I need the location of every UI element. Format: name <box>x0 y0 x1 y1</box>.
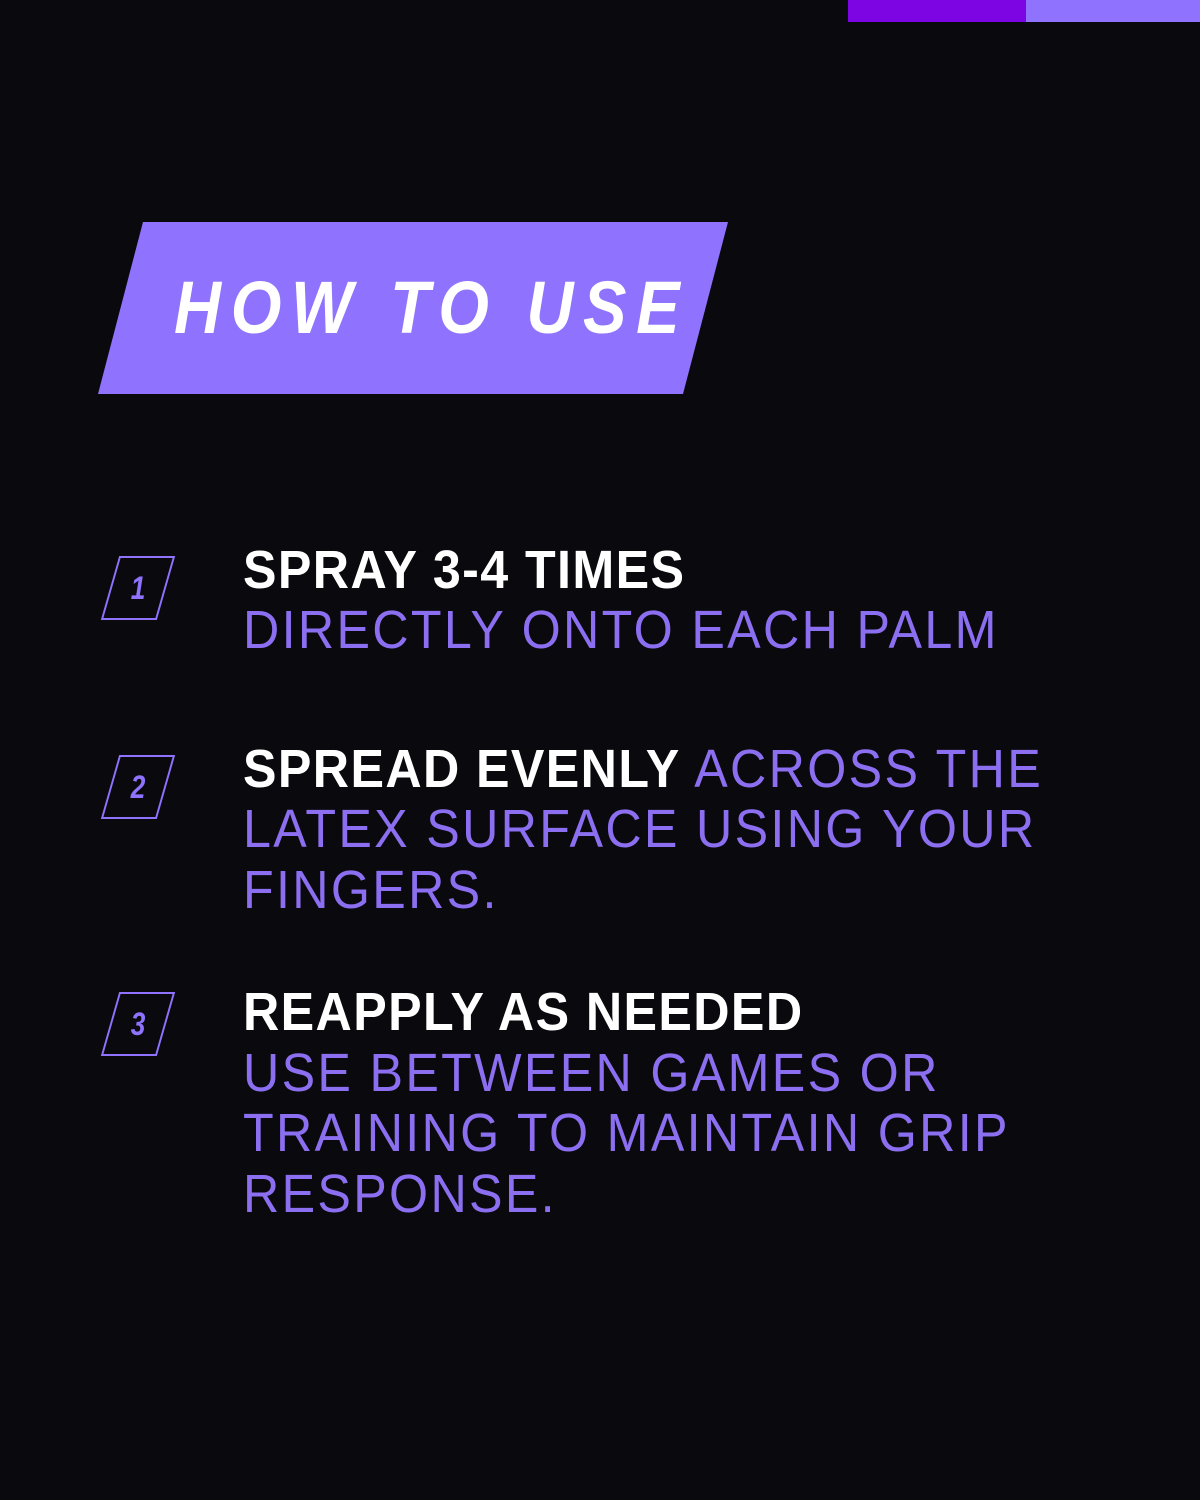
step-text-3: REAPPLY AS NEEDEDUSE BETWEEN GAMES OR TR… <box>243 982 1195 1224</box>
step-item-2: 2 SPREAD EVENLY ACROSS THE LATEX SURFACE… <box>0 739 1200 920</box>
step-number-badge-3: 3 <box>110 992 166 1056</box>
top-accent-segment-light <box>1026 0 1200 22</box>
step-number-label: 2 <box>115 755 161 819</box>
how-to-use-banner: HOW TO USE <box>98 222 728 394</box>
step-text-1: SPRAY 3-4 TIMESDIRECTLY ONTO EACH PALM <box>243 540 1195 661</box>
step-number-label: 1 <box>115 556 161 620</box>
step-highlight-2: SPREAD EVENLY <box>243 739 681 799</box>
page-title: HOW TO USE <box>174 222 689 394</box>
step-number-badge-2: 2 <box>110 755 166 819</box>
top-accent-bar <box>848 0 1200 22</box>
step-body-1: DIRECTLY ONTO EACH PALM <box>243 600 999 660</box>
step-highlight-1: SPRAY 3-4 TIMES <box>243 540 1195 600</box>
step-item-3: 3 REAPPLY AS NEEDEDUSE BETWEEN GAMES OR … <box>0 982 1200 1224</box>
step-text-2: SPREAD EVENLY ACROSS THE LATEX SURFACE U… <box>243 739 1195 920</box>
steps-list: 1 SPRAY 3-4 TIMESDIRECTLY ONTO EACH PALM… <box>0 540 1200 1224</box>
top-accent-segment-dark <box>848 0 1026 22</box>
step-body-3: USE BETWEEN GAMES OR TRAINING TO MAINTAI… <box>243 1043 1009 1224</box>
step-number-label: 3 <box>115 992 161 1056</box>
step-number-badge-1: 1 <box>110 556 166 620</box>
step-item-1: 1 SPRAY 3-4 TIMESDIRECTLY ONTO EACH PALM <box>0 540 1200 661</box>
step-highlight-3: REAPPLY AS NEEDED <box>243 982 1195 1042</box>
